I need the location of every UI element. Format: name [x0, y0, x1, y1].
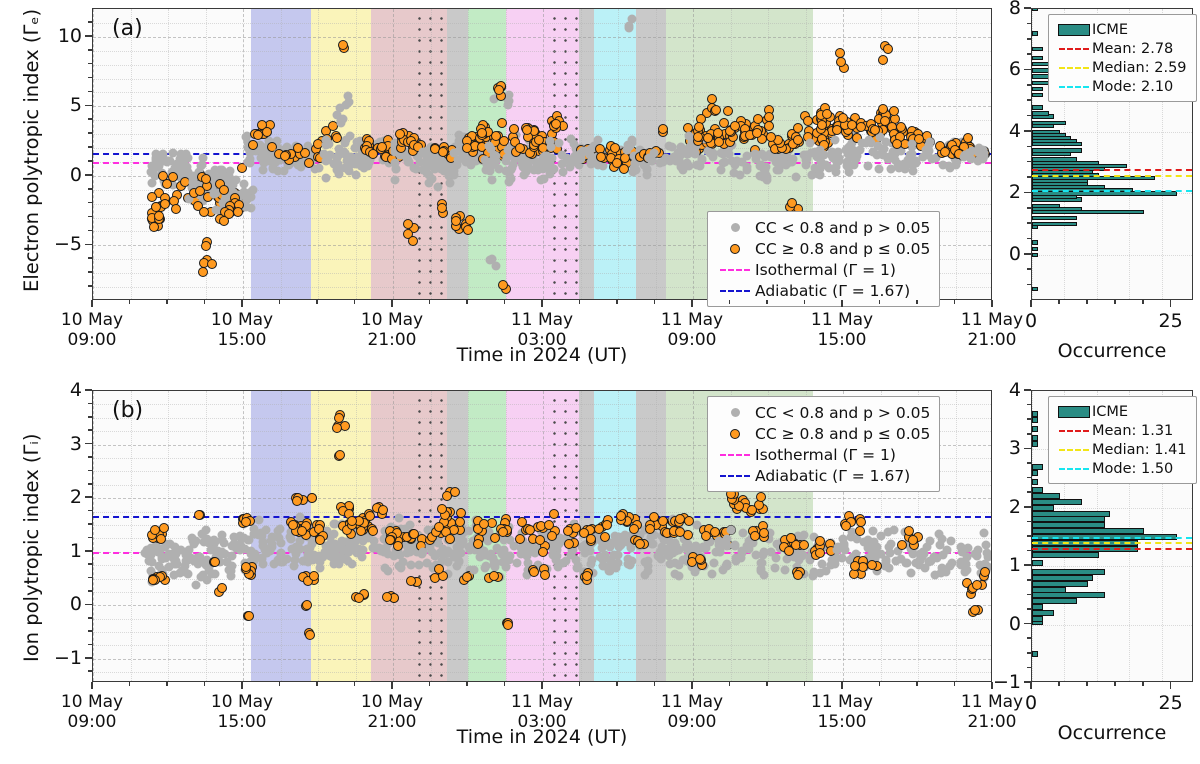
scatter-point-grey-b [142, 550, 151, 559]
scatter-point-orange-a [596, 152, 606, 162]
scatter-point-grey-b [833, 554, 842, 563]
scatter-point-orange-b [815, 536, 825, 546]
hist-a-bar [1032, 31, 1038, 35]
scatter-point-grey-b [915, 556, 924, 565]
scatter-point-orange-b [756, 492, 766, 502]
panel-a-legend-row: Adiabatic (Γ = 1.67) [715, 280, 930, 301]
panel-b-x-tick-minor [579, 682, 581, 686]
hist-b-y-tick-minor [1027, 404, 1031, 406]
scatter-point-grey-b [273, 527, 282, 536]
scatter-point-orange-b [335, 450, 345, 460]
hist-b-bar [1032, 487, 1043, 493]
panel-a-x-tick-label: 11 May15:00 [772, 310, 912, 350]
scatter-point-orange-a [338, 40, 348, 50]
scatter-point-grey-b [290, 556, 299, 565]
scatter-point-orange-a [462, 143, 472, 153]
scatter-point-grey-b [490, 560, 499, 569]
hist-b-y-tick-label: 2 [973, 496, 1021, 518]
scatter-point-orange-a [280, 151, 290, 161]
scatter-point-grey-a [321, 173, 330, 182]
hist-b-bar [1032, 464, 1043, 470]
scatter-point-grey-a [483, 162, 492, 171]
hist-b-legend-key [1056, 430, 1092, 432]
scatter-point-grey-a [807, 170, 816, 179]
panel-a-y-tick-minor [88, 202, 92, 204]
panel-b-x-tick-label: 10 May09:00 [22, 692, 162, 732]
panel-b-legend-label: CC < 0.8 and p > 0.05 [755, 404, 930, 422]
scatter-point-orange-b [517, 517, 527, 527]
scatter-point-orange-b [210, 557, 220, 567]
panel-a-y-tick-label: 0 [30, 164, 82, 186]
hist-b-y-tick-label: 3 [973, 437, 1021, 459]
panel-a-y-tick-label: 5 [30, 94, 82, 116]
hist-a-mean-line [1032, 169, 1192, 171]
scatter-point-orange-b [489, 571, 499, 581]
scatter-point-orange-a [293, 143, 303, 153]
scatter-point-grey-b [770, 563, 779, 572]
scatter-point-orange-a [703, 133, 713, 143]
scatter-point-orange-b [450, 487, 460, 497]
scatter-point-orange-a [509, 124, 519, 134]
hist-a-legend-row: Mode: 2.10 [1056, 77, 1187, 96]
scatter-point-grey-a [576, 155, 585, 164]
mean-line-icon [1059, 48, 1089, 50]
scatter-point-grey-a [520, 170, 529, 179]
panel-b-y-tick-minor [88, 644, 92, 646]
hist-b-bar [1032, 575, 1093, 581]
scatter-point-orange-b [747, 505, 757, 515]
scatter-point-orange-b [815, 548, 825, 558]
panel-a-x-tick-minor [504, 300, 506, 304]
scatter-point-orange-b [645, 524, 655, 534]
scatter-point-grey-b [184, 555, 193, 564]
hist-b-y-tick-minor [1027, 418, 1031, 420]
scatter-point-orange-b [602, 520, 612, 530]
panel-b-legend: CC < 0.8 and p > 0.05CC ≥ 0.8 and p ≤ 0.… [707, 396, 940, 492]
hist-b-y-tick-minor [1027, 637, 1031, 639]
hist-a-x-tick-label: 25 [1159, 310, 1183, 332]
panel-a-y-tick [85, 174, 92, 176]
panel-b-y-tick-minor [88, 590, 92, 592]
hist-a-legend-label: Median: 2.59 [1092, 60, 1187, 76]
panel-b-legend-label: CC ≥ 0.8 and p ≤ 0.05 [755, 425, 930, 443]
scatter-point-grey-b [329, 519, 338, 528]
hist-b-x-tick [1170, 682, 1172, 689]
scatter-point-orange-b [855, 526, 865, 536]
panel-b-legend-key [715, 454, 755, 456]
scatter-point-grey-a [625, 23, 634, 32]
hist-b-bar [1032, 522, 1105, 528]
grid-line-horizontal [93, 37, 991, 38]
panel-a-x-tick-time: 15:00 [772, 330, 912, 350]
scatter-point-orange-b [850, 561, 860, 571]
hist-a-bar [1032, 93, 1043, 97]
scatter-point-orange-a [896, 122, 906, 132]
scatter-point-orange-b [616, 511, 626, 521]
panel-a-x-tick [541, 300, 543, 307]
scatter-point-grey-b [866, 538, 875, 547]
hist-a-y-tick-minor [1027, 222, 1031, 224]
panel-a-y-tick-minor [88, 271, 92, 273]
scatter-point-grey-b [330, 539, 339, 548]
hist-a-y-tick-label: 8 [973, 0, 1021, 19]
panel-a-x-tick-date: 11 May [772, 310, 912, 330]
panel-a-x-tick-minor [466, 300, 468, 304]
scatter-point-grey-a [536, 175, 545, 184]
scatter-point-grey-b [719, 565, 728, 574]
panel-b-x-tick-minor [804, 682, 806, 686]
hist-b-grid-horizontal [1032, 625, 1192, 626]
hist-b-x-tick [1142, 682, 1144, 686]
hist-a-legend: ICMEMean: 2.78Median: 2.59Mode: 2.10 [1048, 14, 1197, 102]
scatter-point-grey-a [259, 165, 268, 174]
scatter-point-orange-b [684, 516, 694, 526]
scatter-point-grey-b [665, 544, 674, 553]
panel-a-y-tick [85, 35, 92, 37]
panel-a-y-tick-minor [88, 257, 92, 259]
scatter-point-grey-a [404, 155, 413, 164]
hist-a-bar [1032, 81, 1049, 85]
panel-a-x-tick [991, 300, 993, 307]
panel-a-x-tick [91, 300, 93, 307]
scatter-point-grey-a [446, 178, 455, 187]
hist-b-bar [1032, 411, 1038, 417]
hist-b-mean-line [1032, 548, 1192, 550]
hist-b-legend-label: Mode: 1.50 [1092, 461, 1173, 477]
panel-a-y-tick-minor [88, 49, 92, 51]
scatter-point-grey-a [326, 150, 335, 159]
hist-a-legend-key [1056, 67, 1092, 69]
scatter-point-orange-a [515, 143, 525, 153]
scatter-point-orange-a [787, 198, 797, 208]
scatter-point-grey-b [595, 553, 604, 562]
panel-a-x-tick-minor [729, 300, 731, 304]
panel-b-legend-key [715, 408, 755, 417]
scatter-point-grey-b [891, 557, 900, 566]
scatter-point-grey-a [545, 136, 554, 145]
hist-b-bar [1032, 598, 1077, 604]
scatter-point-grey-a [248, 185, 257, 194]
scatter-point-grey-b [316, 553, 325, 562]
hist-b-bar [1032, 616, 1043, 622]
hist-b-x-tick-label: 0 [1025, 692, 1037, 714]
hist-b-bar [1032, 581, 1088, 587]
scatter-point-grey-b [624, 560, 633, 569]
panel-a-legend-key [715, 223, 755, 232]
panel-a-x-tick [691, 300, 693, 307]
scatter-point-grey-a [965, 148, 974, 157]
hist-a-legend-key [1056, 48, 1092, 50]
scatter-point-grey-a [523, 158, 532, 167]
scatter-point-grey-b [810, 567, 819, 576]
hist-a-y-tick-label: 0 [973, 243, 1021, 265]
scatter-point-grey-b [758, 550, 767, 559]
scatter-point-grey-b [671, 559, 680, 568]
hist-a-bar [1032, 216, 1077, 220]
adiabatic-line-icon [720, 290, 750, 292]
hist-a-y-tick-minor [1027, 99, 1031, 101]
hist-a-y-tick [1024, 130, 1031, 132]
scatter-point-grey-b [329, 530, 338, 539]
hist-a-bar [1032, 130, 1060, 134]
panel-b-x-tick-minor [879, 682, 881, 686]
panel-b-y-tick-label: 4 [30, 379, 82, 401]
hist-b-legend: ICMEMean: 1.31Median: 1.41Mode: 1.50 [1048, 396, 1197, 484]
orange-dot-icon [730, 244, 740, 254]
hist-a-bar [1032, 74, 1049, 78]
panel-b-x-tick-label: 11 May09:00 [622, 692, 762, 732]
hist-b-y-tick-minor [1027, 652, 1031, 654]
scatter-point-grey-a [433, 161, 442, 170]
scatter-point-orange-a [803, 116, 813, 126]
scatter-point-grey-a [622, 146, 631, 155]
scatter-point-grey-b [702, 543, 711, 552]
panel-b-y-tick-label: 0 [30, 593, 82, 615]
scatter-point-grey-a [666, 157, 675, 166]
hist-a-y-tick-minor [1027, 238, 1031, 240]
scatter-point-orange-a [730, 121, 740, 131]
hist-a-x-tick [1030, 300, 1032, 307]
hist-b-y-tick [1024, 564, 1031, 566]
panel-b-x-tick-time: 09:00 [622, 712, 762, 732]
scatter-point-grey-a [827, 152, 836, 161]
panel-b-y-tick [85, 657, 92, 659]
scatter-point-grey-b [653, 552, 662, 561]
scatter-point-grey-b [171, 560, 180, 569]
scatter-point-grey-b [730, 540, 739, 549]
hist-b-legend-key [1056, 449, 1092, 451]
scatter-point-grey-b [255, 515, 264, 524]
panel-a-x-tick-minor [279, 300, 281, 304]
panel-a-x-tick-time: 21:00 [322, 330, 462, 350]
scatter-point-orange-b [148, 575, 158, 585]
panel-a-legend-label: Isothermal (Γ = 1) [755, 261, 896, 279]
hist-a-x-tick [1086, 300, 1088, 304]
scatter-point-grey-b [498, 550, 507, 559]
panel-a-y-tick [85, 105, 92, 107]
scatter-point-grey-b [486, 550, 495, 559]
scatter-point-orange-a [199, 207, 209, 217]
scatter-point-orange-b [434, 564, 444, 574]
scatter-point-grey-b [198, 570, 207, 579]
scatter-point-grey-a [679, 148, 688, 157]
scatter-point-orange-a [195, 186, 205, 196]
hist-b-grid-horizontal [1032, 566, 1192, 567]
scatter-point-grey-a [411, 165, 420, 174]
scatter-point-orange-a [693, 132, 703, 142]
panel-b-y-tick-minor [88, 630, 92, 632]
panel-b-x-tick-label: 11 May03:00 [472, 692, 612, 732]
panel-b-y-tick-minor [88, 403, 92, 405]
hist-b-x-tick-label: 25 [1159, 692, 1183, 714]
panel-a-x-tick-minor [429, 300, 431, 304]
panel-a-x-tick-time: 21:00 [922, 330, 1062, 350]
hist-b-x-tick [1086, 682, 1088, 686]
scatter-point-grey-a [488, 254, 497, 263]
panel-a-legend-label: CC < 0.8 and p > 0.05 [755, 219, 930, 237]
scatter-point-grey-b [201, 525, 210, 534]
panel-b-x-tick-time: 09:00 [22, 712, 162, 732]
grey-dot-icon [731, 223, 740, 232]
scatter-point-grey-b [957, 543, 966, 552]
scatter-point-orange-a [498, 280, 508, 290]
hist-a-legend-label: ICME [1092, 22, 1128, 38]
panel-a-tag: (a) [112, 16, 143, 41]
scatter-point-grey-b [333, 554, 342, 563]
panel-b-x-tick-date: 11 May [622, 692, 762, 712]
scatter-point-grey-b [355, 544, 364, 553]
panel-a-y-tick [85, 244, 92, 246]
scatter-point-orange-b [675, 527, 685, 537]
panel-b-y-tick [85, 496, 92, 498]
scatter-point-grey-b [196, 556, 205, 565]
panel-a-x-tick [391, 300, 393, 307]
grey-dot-icon [731, 408, 740, 417]
scatter-point-orange-b [535, 535, 545, 545]
hist-a-bar [1032, 240, 1038, 244]
panel-a-x-tick-minor [579, 300, 581, 304]
grid-line-horizontal-minor [93, 79, 991, 80]
scatter-point-grey-a [506, 174, 515, 183]
panel-a-x-tick-minor [204, 300, 206, 304]
scatter-point-orange-a [465, 215, 475, 225]
grid-line-horizontal [93, 605, 991, 606]
scatter-point-orange-b [538, 547, 548, 557]
scatter-point-grey-b [444, 557, 453, 566]
scatter-point-orange-a [522, 125, 532, 135]
scatter-point-grey-a [757, 150, 766, 159]
scatter-point-grey-a [225, 172, 234, 181]
hist-b-y-tick-minor [1027, 521, 1031, 523]
scatter-point-orange-b [897, 540, 907, 550]
panel-b-y-tick [85, 550, 92, 552]
hist-b-bar [1032, 604, 1043, 610]
grid-line-vertical [93, 391, 94, 681]
hist-b-bar [1032, 587, 1066, 593]
scatter-point-grey-a [487, 175, 496, 184]
grid-line-horizontal-minor [93, 65, 991, 66]
scatter-point-grey-b [170, 543, 179, 552]
scatter-point-orange-a [451, 216, 461, 226]
hist-a-y-tick-minor [1027, 23, 1031, 25]
scatter-point-grey-a [197, 162, 206, 171]
panel-b-y-tick-minor [88, 617, 92, 619]
scatter-point-orange-a [403, 219, 413, 229]
scatter-point-grey-b [423, 559, 432, 568]
grid-line-vertical-minor [468, 391, 469, 681]
scatter-point-orange-a [619, 164, 629, 174]
scatter-point-grey-a [717, 165, 726, 174]
hist-a-legend-row: Mean: 2.78 [1056, 39, 1187, 58]
hist-a-y-tick-minor [1027, 53, 1031, 55]
scatter-point-orange-a [707, 94, 717, 104]
scatter-point-orange-a [534, 135, 544, 145]
hist-a-y-tick [1024, 69, 1031, 71]
scatter-point-orange-b [194, 510, 204, 520]
scatter-point-grey-b [225, 566, 234, 575]
panel-a-x-tick-date: 11 May [922, 310, 1062, 330]
scatter-point-grey-a [742, 165, 751, 174]
scatter-point-grey-b [235, 546, 244, 555]
scatter-point-grey-a [629, 164, 638, 173]
scatter-point-orange-a [201, 174, 211, 184]
hist-a-y-tick-minor [1027, 268, 1031, 270]
panel-a-x-tick-minor [129, 300, 131, 304]
hist-a-bar [1032, 105, 1043, 109]
hist-a-bar [1032, 287, 1038, 291]
scatter-point-orange-b [582, 571, 592, 581]
panel-a-x-tick-date: 11 May [622, 310, 762, 330]
scatter-point-orange-b [241, 517, 251, 527]
scatter-point-orange-b [503, 620, 513, 630]
scatter-point-orange-b [297, 526, 307, 536]
grid-line-horizontal-minor [93, 92, 991, 93]
scatter-point-orange-b [473, 539, 483, 549]
panel-a-legend-key [715, 244, 755, 254]
grid-line-horizontal-minor [93, 632, 991, 633]
panel-a-x-tick-minor [654, 300, 656, 304]
scatter-point-grey-a [682, 161, 691, 170]
hist-a-y-tick-minor [1027, 161, 1031, 163]
scatter-point-orange-b [799, 540, 809, 550]
scatter-point-grey-a [246, 158, 255, 167]
scatter-point-grey-a [559, 167, 568, 176]
panel-b-x-tick-minor [916, 682, 918, 686]
scatter-point-orange-b [241, 562, 251, 572]
hist-b-legend-row: Median: 1.41 [1056, 440, 1187, 459]
panel-a-x-tick-minor [316, 300, 318, 304]
hist-b-x-tick [1058, 682, 1060, 686]
panel-a-x-tick-label: 10 May15:00 [172, 310, 312, 350]
hist-a-median-line [1032, 175, 1192, 177]
hist-b-bar [1032, 592, 1105, 598]
hist-a-bar [1032, 253, 1038, 257]
panel-a-x-tick-label: 11 May21:00 [922, 310, 1062, 350]
scatter-point-grey-b [726, 526, 735, 535]
scatter-point-grey-b [512, 558, 521, 567]
panel-b-y-tick-label: −1 [30, 647, 82, 669]
panel-b-x-tick-minor [504, 682, 506, 686]
hist-a-y-tick-minor [1027, 284, 1031, 286]
panel-a-x-tick-date: 10 May [322, 310, 462, 330]
scatter-point-orange-a [836, 57, 846, 67]
scatter-point-grey-b [276, 538, 285, 547]
hist-a-y-tick [1024, 7, 1031, 9]
hist-b-y-tick-minor [1027, 594, 1031, 596]
hist-b-y-tick-minor [1027, 477, 1031, 479]
scatter-point-orange-b [437, 504, 447, 514]
panel-b-legend-row: Adiabatic (Γ = 1.67) [715, 465, 930, 486]
hist-b-y-tick [1024, 389, 1031, 391]
panel-b-y-tick-minor [88, 456, 92, 458]
scatter-point-grey-b [227, 552, 236, 561]
hist-a-y-tick-label: 4 [973, 120, 1021, 142]
scatter-point-grey-b [877, 532, 886, 541]
scatter-point-grey-a [850, 161, 859, 170]
scatter-point-grey-b [617, 541, 626, 550]
panel-a-y-tick-minor [88, 77, 92, 79]
scatter-point-orange-b [332, 423, 342, 433]
scatter-point-grey-a [815, 171, 824, 180]
scatter-point-grey-b [881, 555, 890, 564]
scatter-point-orange-a [219, 185, 229, 195]
scatter-point-grey-b [470, 566, 479, 575]
hist-b-legend-row: ICME [1056, 402, 1187, 421]
hist-a-bar [1032, 148, 1082, 152]
scatter-point-orange-a [262, 127, 272, 137]
grid-line-horizontal [93, 659, 991, 660]
panel-a-x-tick-time: 09:00 [22, 330, 162, 350]
